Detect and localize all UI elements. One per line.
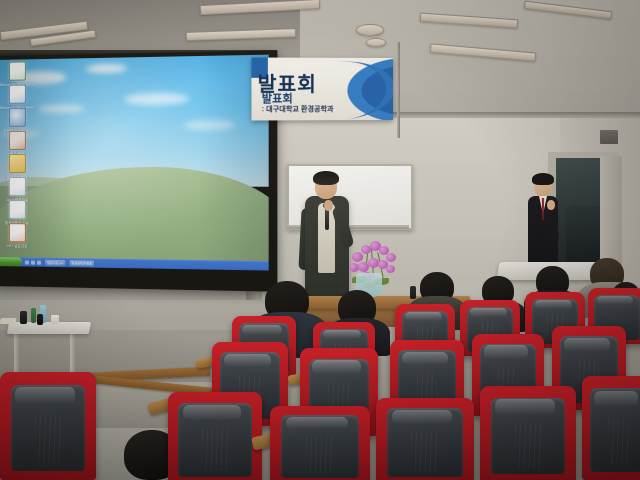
seat-embossing (608, 418, 628, 466)
auditorium-seat[interactable] (270, 406, 370, 480)
desktop-icon[interactable]: Microsoft Office Excel (0, 61, 34, 87)
desktop-icon[interactable]: 한글 문서 (0, 131, 34, 157)
seat-highlight (470, 308, 507, 317)
seat-highlight (224, 354, 271, 367)
taskbar-button[interactable]: 발표자료.ppt (45, 259, 65, 265)
taskbar-button[interactable]: 환경공학과 발표 (69, 260, 94, 266)
document-icon (8, 177, 25, 196)
auditorium-seat[interactable] (582, 376, 640, 480)
staff-hair (532, 173, 554, 185)
seat-highlight (312, 360, 360, 374)
seat-highlight (323, 330, 361, 339)
quick-launch[interactable] (25, 260, 41, 264)
projection-screen[interactable]: Microsoft Office Excel Microsoft Office … (0, 50, 277, 291)
ceiling-speaker-icon (366, 38, 386, 47)
powerpoint-icon (8, 223, 25, 242)
seat-highlight (495, 399, 555, 414)
seat-highlight (392, 410, 453, 424)
paper-stack (0, 318, 17, 324)
quick-launch-icon[interactable] (25, 260, 29, 264)
beverage-can (20, 311, 27, 324)
seat-embossing (306, 437, 334, 473)
orchid-flower (352, 252, 363, 262)
desktop-icon[interactable]: 인터넷 익스플로러 (0, 108, 34, 134)
document-icon (8, 200, 25, 219)
auditorium-presentation-photo: Microsoft Office Excel Microsoft Office … (0, 0, 640, 480)
seat-highlight (564, 338, 610, 351)
ceiling-light-icon (356, 24, 384, 36)
presenter-hand (324, 200, 333, 211)
doorway-interior (566, 206, 600, 270)
water-bottle (31, 308, 36, 323)
eyeglasses-icon (317, 182, 335, 187)
seat-highlight (402, 352, 448, 365)
banner-pole (397, 42, 400, 138)
desktop-icon[interactable]: 발표자료 폴더 (0, 154, 34, 180)
seat-highlight (286, 417, 348, 429)
auditorium-seat[interactable] (0, 372, 96, 480)
seat-highlight (484, 345, 529, 358)
seat-embossing (515, 424, 542, 468)
seat-highlight (242, 325, 282, 335)
auditorium-seat[interactable] (480, 386, 576, 480)
desktop-icon[interactable]: PPT 발표자료 (0, 223, 34, 249)
seat-highlight (594, 391, 639, 408)
start-button[interactable] (0, 257, 22, 266)
seat-embossing (202, 429, 228, 471)
hangul-document-icon (8, 131, 25, 150)
table-leg (14, 332, 19, 374)
banner-subtitle: : 대구대학교 환경공학과 (262, 104, 334, 114)
auditorium-seat[interactable] (168, 392, 262, 480)
side-table (7, 322, 91, 334)
beverage-can (37, 314, 43, 325)
desktop-icon[interactable]: 2012 발표자료 (0, 177, 34, 203)
door-panel[interactable] (600, 156, 622, 272)
wall-vent-icon (600, 130, 618, 144)
folder-icon (8, 154, 25, 173)
desktop-icon[interactable]: 환경공학과 자료 (0, 200, 34, 226)
orchid-flower (386, 253, 396, 262)
projected-desktop: Microsoft Office Excel Microsoft Office … (0, 55, 269, 271)
paper-cup (51, 315, 59, 324)
seat-highlight (405, 312, 442, 321)
seat-highlight (183, 405, 241, 420)
quick-launch-icon[interactable] (31, 260, 35, 264)
water-bottle (410, 286, 416, 299)
auditorium-seat[interactable] (376, 398, 474, 480)
seat-highlight (15, 387, 75, 404)
excel-icon (8, 61, 25, 80)
orchid-flower (386, 265, 395, 273)
seat-embossing (35, 415, 62, 465)
seat-highlight (535, 300, 572, 309)
desktop-icon[interactable]: Microsoft Office Word (0, 84, 34, 110)
quick-launch-icon[interactable] (37, 260, 41, 264)
seat-embossing (411, 432, 438, 472)
staff-hand (547, 200, 555, 210)
internet-explorer-icon (8, 108, 25, 127)
seat-highlight (597, 296, 633, 305)
screen-vignette (0, 55, 269, 271)
event-banner: 발표회 발표회 : 대구대학교 환경공학과 (251, 57, 393, 120)
word-icon (8, 85, 25, 104)
